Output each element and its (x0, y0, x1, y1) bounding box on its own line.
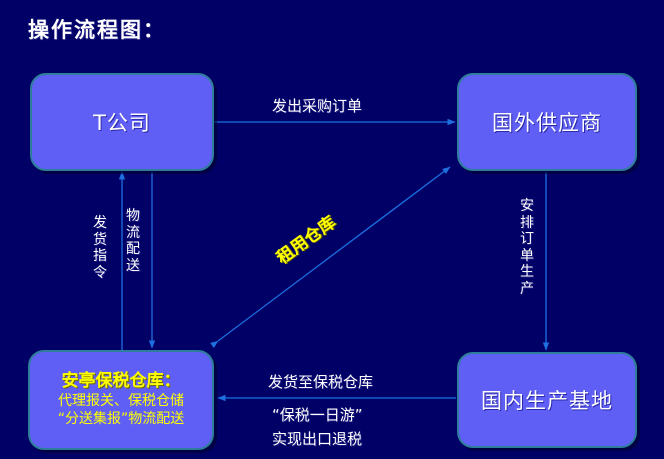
label-logistics-delivery: 物流配送 (125, 208, 141, 274)
node-bonded-warehouse[interactable]: 安亭保税仓库： 代理报关、保税仓储 “分送集报”物流配送 (28, 350, 214, 450)
node-foreign-supplier-label: 国外供应商 (492, 107, 602, 137)
label-arrange-production: 安排订单生产 (519, 198, 535, 297)
node-bonded-warehouse-heading: 安亭保税仓库： (62, 371, 181, 392)
node-foreign-supplier[interactable]: 国外供应商 (457, 73, 637, 171)
node-bonded-warehouse-line2: “分送集报”物流配送 (58, 411, 185, 429)
node-domestic-base[interactable]: 国内生产基地 (457, 352, 637, 448)
node-domestic-base-label: 国内生产基地 (481, 385, 613, 415)
label-shipping-instruction: 发货指令 (92, 215, 108, 281)
node-t-company-label: T公司 (93, 107, 151, 137)
arrow-rent-warehouse (218, 167, 450, 341)
flowchart-canvas: 操作流程图： T公司 国外供应商 安亭保税仓库： 代理报关、保税仓储 “分送集报… (0, 0, 664, 459)
node-bonded-warehouse-line1: 代理报关、保税仓储 (58, 393, 184, 411)
label-purchase-order: 发出采购订单 (272, 95, 362, 116)
node-t-company[interactable]: T公司 (30, 73, 214, 171)
label-bonded-one-day-tour: “保税一日游” (272, 404, 363, 425)
label-ship-to-bonded: 发货至保税仓库 (268, 371, 373, 392)
label-export-tax-rebate: 实现出口退税 (272, 428, 362, 449)
